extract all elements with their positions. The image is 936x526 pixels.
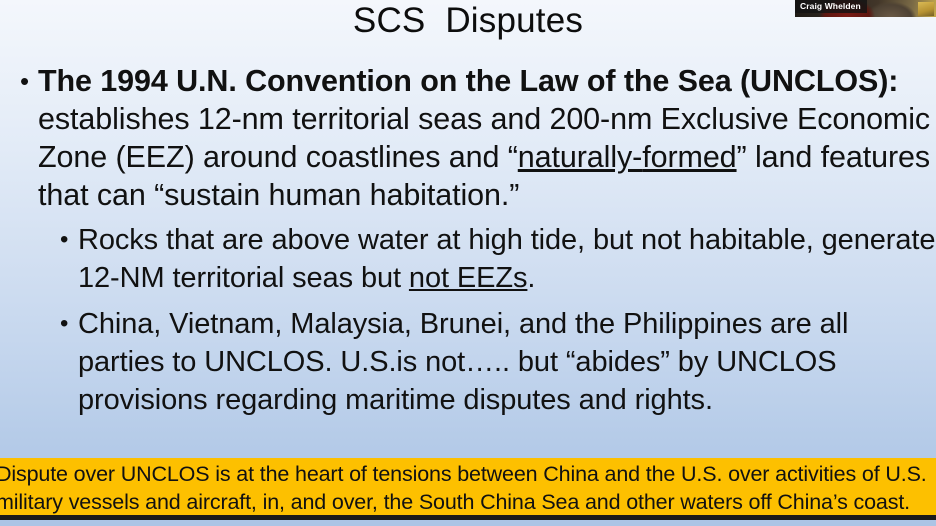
bullet-item-rocks: • Rocks that are above water at high tid… [0, 221, 936, 297]
bullet-1-colon: : [888, 64, 898, 98]
slide-body: • The 1994 U.N. Convention on the Law of… [0, 62, 936, 419]
bullet-dot-icon: • [20, 62, 29, 100]
bullet-dot-icon: • [60, 305, 68, 343]
banner-line-1: Dispute over UNCLOS is at the heart of t… [0, 458, 936, 488]
bullet-dot-icon: • [60, 221, 68, 259]
bullet-1-line1-rest: establishes 12-nm territorial seas and 2… [38, 102, 789, 136]
bullet-3-line1: China, Vietnam, Malaysia, Brunei, and th… [78, 308, 812, 340]
bullet-item-parties: • China, Vietnam, Malaysia, Brunei, and … [0, 305, 936, 419]
video-participant-tile[interactable]: Craig Whelden [795, 0, 936, 17]
underlined-formed: formed [642, 140, 736, 174]
bullet-2-line1: Rocks that are above water at high tide,… [78, 224, 814, 256]
participant-name-label: Craig Whelden [795, 0, 867, 13]
presentation-slide: SCS Disputes • The 1994 U.N. Convention … [0, 0, 936, 526]
underlined-not-eezs: not EEZs [409, 262, 527, 294]
bullet-2-line2-b: . [527, 262, 535, 294]
spacer-1 [0, 214, 936, 221]
takeaway-banner: Dispute over UNCLOS is at the heart of t… [0, 458, 936, 520]
spacer-2 [0, 297, 936, 305]
bullet-item-unclos: • The 1994 U.N. Convention on the Law of… [0, 62, 936, 214]
banner-line-2: military vessels and aircraft, in, and o… [0, 488, 936, 516]
bullet-1-bold-lead: The 1994 U.N. Convention on the Law of t… [38, 64, 888, 98]
underlined-naturally: naturally- [518, 140, 642, 174]
